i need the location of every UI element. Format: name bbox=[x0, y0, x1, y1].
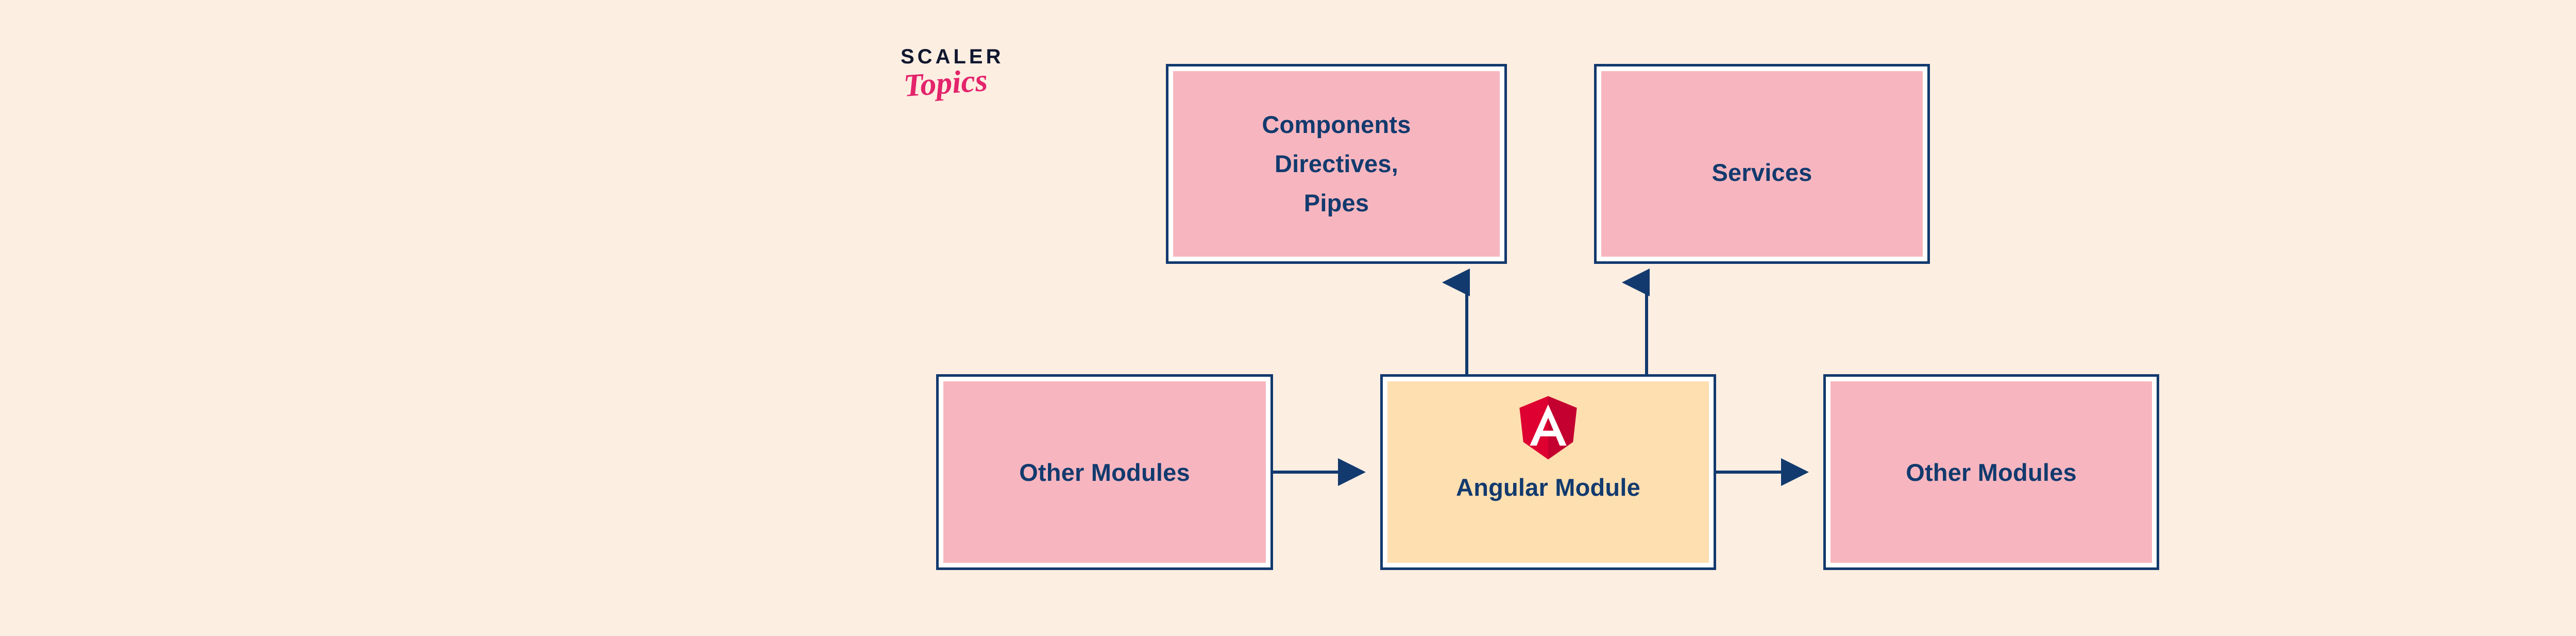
angular-shield-icon bbox=[1518, 396, 1578, 460]
node-label-line: Directives, bbox=[1262, 144, 1411, 183]
node-label-line: Components bbox=[1262, 105, 1411, 144]
node-fill: Services bbox=[1601, 71, 1923, 257]
node-label: Services bbox=[1712, 158, 1812, 187]
node-components-directives-pipes[interactable]: Components Directives, Pipes bbox=[1166, 64, 1507, 264]
node-label-line: Pipes bbox=[1262, 183, 1411, 223]
node-label: Other Modules bbox=[1019, 458, 1190, 487]
node-other-modules-right[interactable]: Other Modules bbox=[1823, 374, 2159, 570]
node-angular-module[interactable]: Angular Module bbox=[1380, 374, 1716, 570]
node-fill: Components Directives, Pipes bbox=[1173, 71, 1500, 257]
node-services[interactable]: Services bbox=[1594, 64, 1930, 264]
node-label: Components Directives, Pipes bbox=[1262, 105, 1411, 223]
node-fill: Angular Module bbox=[1387, 381, 1709, 563]
diagram-canvas: SCALER Topics bbox=[0, 0, 2576, 636]
node-label: Other Modules bbox=[1906, 458, 2077, 487]
node-label: Angular Module bbox=[1456, 473, 1640, 501]
node-fill: Other Modules bbox=[1831, 381, 2152, 563]
node-fill: Other Modules bbox=[943, 381, 1266, 563]
node-other-modules-left[interactable]: Other Modules bbox=[936, 374, 1273, 570]
